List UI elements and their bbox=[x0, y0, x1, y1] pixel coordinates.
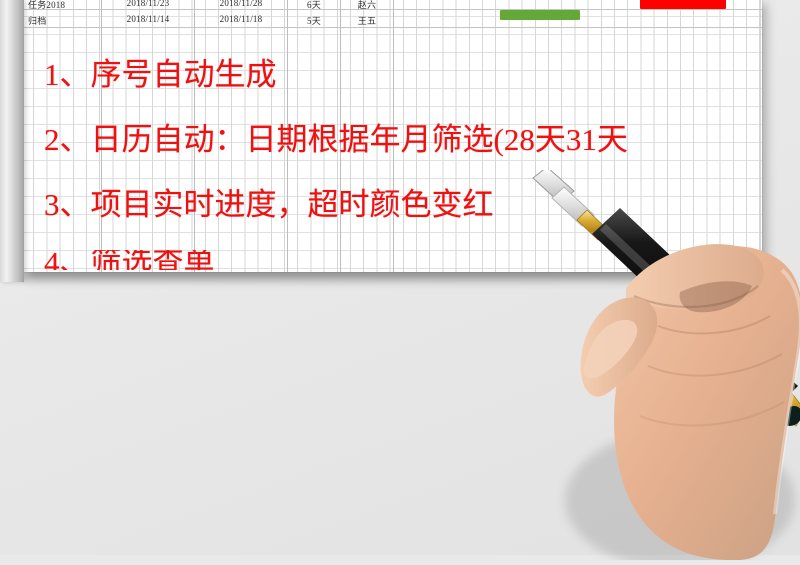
annotation-line-3: 3、项目实时进度，超时颜色变红 bbox=[44, 188, 494, 222]
annotation-line-2: 2、日历自动：日期根据年月筛选(28天31天 bbox=[44, 123, 628, 157]
table-cell-end[interactable]: 2018/11/28 bbox=[195, 0, 287, 8]
annotation-line-1: 1、序号自动生成 bbox=[44, 58, 277, 92]
gantt-bar-overdue[interactable] bbox=[640, 0, 726, 9]
table-cell-start[interactable]: 2018/11/14 bbox=[102, 14, 194, 24]
sheet-drop-shadow bbox=[26, 270, 762, 286]
gantt-bar-normal[interactable] bbox=[500, 10, 580, 20]
spreadsheet-sheet: 任务2018 2018/11/23 2018/11/28 6天 赵六 归档 20… bbox=[22, 0, 762, 272]
row-separator bbox=[22, 27, 762, 28]
table-cell-owner[interactable]: 王五 bbox=[341, 14, 393, 27]
table-cell-task[interactable]: 归档 bbox=[28, 14, 100, 27]
table-cell-task[interactable]: 任务2018 bbox=[28, 0, 100, 11]
sheet-left-edge bbox=[0, 0, 24, 282]
table-cell-duration[interactable]: 5天 bbox=[288, 14, 340, 27]
table-cell-start[interactable]: 2018/11/23 bbox=[102, 0, 194, 8]
annotation-line-4: 4、筛选查单 bbox=[44, 250, 215, 270]
table-cell-end[interactable]: 2018/11/18 bbox=[195, 14, 287, 24]
table-cell-owner[interactable]: 赵六 bbox=[341, 0, 393, 11]
table-cell-duration[interactable]: 6天 bbox=[288, 0, 340, 11]
annotation-line-4-clipped: 4、筛选查单 bbox=[22, 250, 762, 270]
